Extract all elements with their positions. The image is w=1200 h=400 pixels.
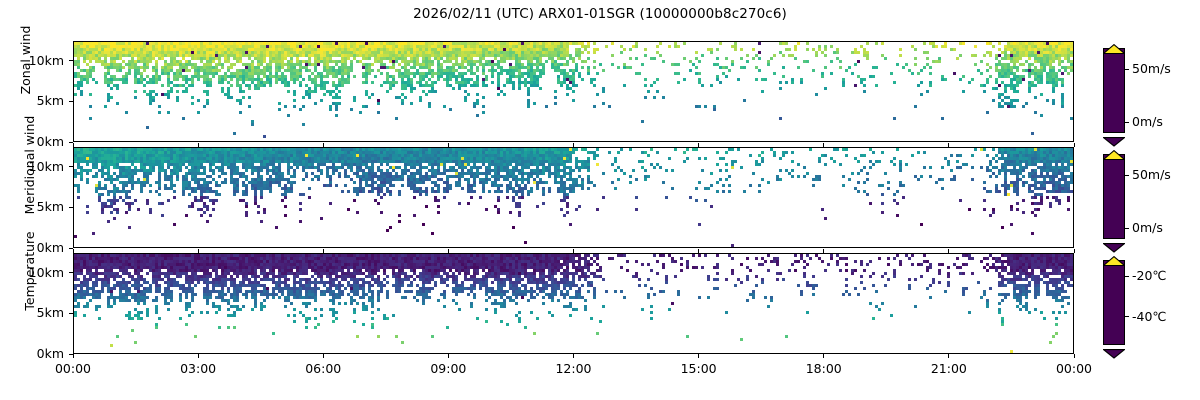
x-tick-label: 18:00: [779, 361, 869, 376]
x-tick-mark-upper: [573, 249, 574, 253]
x-tick-label: 12:00: [529, 361, 619, 376]
colorbar-tick-mark: [1125, 228, 1129, 229]
x-tick-label: 00:00: [1029, 361, 1119, 376]
heatmap-canvas-temperature: [74, 254, 1074, 354]
y-tick-label: 5km: [0, 93, 64, 108]
plot-panel-temperature: [73, 253, 1074, 354]
x-tick-label: 06:00: [278, 361, 368, 376]
colorbar-tick-mark: [1125, 69, 1129, 70]
heatmap-canvas-zonal-wind: [74, 42, 1074, 142]
colorbar-extend-min-arrow: [1103, 238, 1125, 248]
y-tick-label: 5km: [0, 305, 64, 320]
x-tick-mark-upper: [698, 143, 699, 147]
colorbar-tick-label: 50m/s: [1132, 167, 1171, 182]
x-tick-label: 03:00: [153, 361, 243, 376]
y-tick-mark: [69, 207, 73, 208]
x-tick-mark-upper: [73, 249, 74, 253]
x-tick-mark-upper: [823, 143, 824, 147]
y-tick-label: 0km: [0, 240, 64, 255]
colorbar-tick-mark: [1125, 175, 1129, 176]
figure-root: 2026/02/11 (UTC) ARX01-01SGR (10000000b8…: [0, 0, 1200, 400]
colorbar-gradient: [1103, 260, 1125, 345]
colorbar-extend-max-arrow: [1103, 145, 1125, 155]
x-tick-mark-upper: [323, 249, 324, 253]
colorbar-extend-max-arrow: [1103, 39, 1125, 49]
y-tick-label: 10km: [0, 159, 64, 174]
x-tick-mark-upper: [448, 249, 449, 253]
x-tick-mark-upper: [1074, 249, 1075, 253]
colorbar-extend-min-arrow: [1103, 132, 1125, 142]
x-tick-mark: [698, 354, 699, 358]
colorbar-zonal-wind: [1103, 39, 1125, 142]
x-tick-label: 00:00: [28, 361, 118, 376]
colorbar-tick-mark: [1125, 276, 1129, 277]
x-tick-mark: [73, 354, 74, 358]
heatmap-canvas-meridional-wind: [74, 148, 1074, 248]
x-tick-mark: [323, 354, 324, 358]
colorbar-gradient: [1103, 48, 1125, 133]
colorbar-tick-label: -20℃: [1132, 268, 1166, 283]
x-tick-label: 21:00: [904, 361, 994, 376]
colorbar-temperature: [1103, 251, 1125, 354]
colorbar-tick-label: 0m/s: [1132, 114, 1163, 129]
x-tick-mark-upper: [948, 249, 949, 253]
colorbar-tick-label: -40℃: [1132, 309, 1166, 324]
page-title: 2026/02/11 (UTC) ARX01-01SGR (10000000b8…: [0, 6, 1200, 22]
x-tick-mark: [573, 354, 574, 358]
colorbar-tick-mark: [1125, 122, 1129, 123]
x-tick-mark-upper: [573, 143, 574, 147]
x-tick-mark: [948, 354, 949, 358]
colorbar-tick-label: 50m/s: [1132, 61, 1171, 76]
x-tick-mark-upper: [73, 143, 74, 147]
plot-panel-meridional-wind: [73, 147, 1074, 248]
x-tick-mark: [448, 354, 449, 358]
y-tick-mark: [69, 101, 73, 102]
colorbar-meridional-wind: [1103, 145, 1125, 248]
x-tick-mark: [198, 354, 199, 358]
colorbar-gradient: [1103, 154, 1125, 239]
x-tick-mark-upper: [448, 143, 449, 147]
x-tick-label: 09:00: [403, 361, 493, 376]
y-tick-label: 0km: [0, 346, 64, 361]
x-tick-mark-upper: [323, 143, 324, 147]
colorbar-tick-label: 0m/s: [1132, 220, 1163, 235]
x-tick-mark-upper: [698, 249, 699, 253]
x-tick-mark-upper: [1074, 143, 1075, 147]
x-tick-mark-upper: [823, 249, 824, 253]
x-tick-mark-upper: [198, 249, 199, 253]
colorbar-extend-max-arrow: [1103, 251, 1125, 261]
y-tick-label: 5km: [0, 199, 64, 214]
x-tick-label: 15:00: [654, 361, 744, 376]
x-tick-mark: [1074, 354, 1075, 358]
colorbar-extend-min-arrow: [1103, 344, 1125, 354]
y-tick-mark: [69, 313, 73, 314]
y-tick-label: 10km: [0, 53, 64, 68]
y-tick-mark: [69, 166, 73, 167]
x-tick-mark-upper: [948, 143, 949, 147]
y-tick-mark: [69, 60, 73, 61]
y-tick-label: 10km: [0, 265, 64, 280]
colorbar-tick-mark: [1125, 316, 1129, 317]
x-tick-mark-upper: [198, 143, 199, 147]
x-tick-mark: [823, 354, 824, 358]
plot-panel-zonal-wind: [73, 41, 1074, 142]
y-tick-label: 0km: [0, 134, 64, 149]
y-tick-mark: [69, 272, 73, 273]
